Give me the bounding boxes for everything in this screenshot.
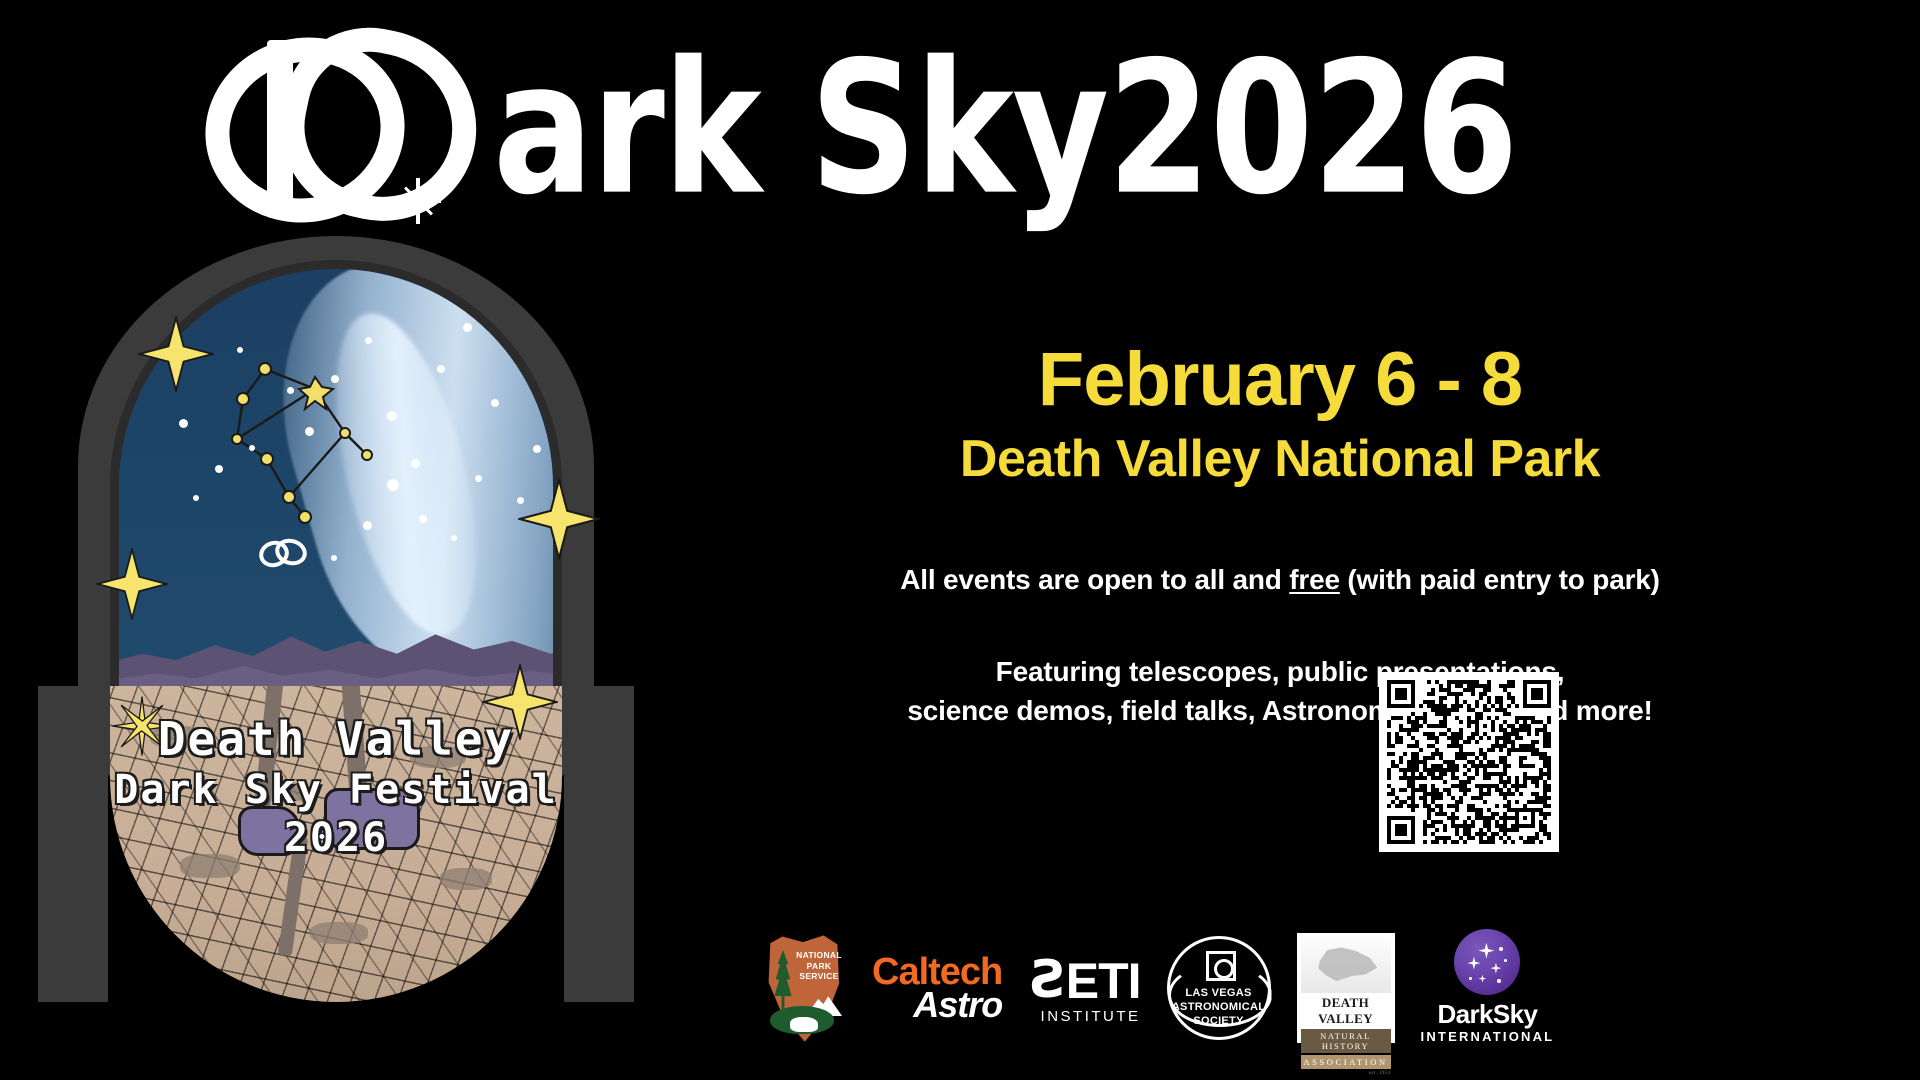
seti-reversed-s-icon: S: [1028, 957, 1065, 1004]
star-icon-mid-right: [518, 478, 600, 560]
sponsor-death-valley-natural-history-association[interactable]: DEATH VALLEY NATURAL HISTORY ASSOCIATION…: [1297, 927, 1395, 1049]
poster-root: ark Sky2026: [0, 0, 1920, 1080]
free-admission-notice: All events are open to all and free (wit…: [660, 564, 1900, 596]
darksky-international-logo: DarkSky INTERNATIONAL: [1421, 929, 1555, 1048]
sponsor-national-park-service[interactable]: NATIONAL PARK SERVICE: [760, 927, 846, 1049]
sponsor-logo-row: NATIONAL PARK SERVICE Caltech Astro S ET…: [760, 922, 1460, 1054]
festival-badge-sticker: Death Valley Dark Sky Festival 2026: [78, 236, 594, 866]
event-info-column: February 6 - 8 Death Valley National Par…: [660, 340, 1900, 731]
sparkle-icon: [395, 178, 441, 224]
dvnha-line-3: ASSOCIATION: [1301, 1055, 1391, 1069]
caltech-astro-logo: Caltech Astro: [872, 953, 1002, 1023]
star-icon-top-left: [138, 316, 214, 392]
sponsor-seti-institute[interactable]: S ETI INSTITUTE: [1028, 927, 1140, 1049]
badge-title: Death Valley Dark Sky Festival 2026: [78, 714, 594, 862]
badge-title-line2: Dark Sky Festival 2026: [78, 766, 594, 862]
free-notice-post: (with paid entry to park): [1340, 564, 1660, 595]
nps-line-2: PARK: [794, 961, 844, 972]
nps-arrowhead-icon: NATIONAL PARK SERVICE: [760, 932, 846, 1044]
dvnha-line-4: est. 1954: [1301, 1071, 1391, 1076]
dvnha-line-1: DEATH VALLEY: [1301, 995, 1391, 1027]
compass-rose-icon: [1206, 951, 1236, 981]
free-notice-emphasis: free: [1289, 564, 1340, 595]
seti-institute-logo: S ETI INSTITUTE: [1028, 952, 1140, 1025]
sponsor-caltech-astro[interactable]: Caltech Astro: [872, 927, 1002, 1049]
sponsor-darksky-international[interactable]: DarkSky INTERNATIONAL: [1421, 927, 1555, 1049]
sponsor-las-vegas-astronomical-society[interactable]: LAS VEGAS ASTRONOMICAL SOCIETY: [1167, 927, 1271, 1049]
darksky-international-word: INTERNATIONAL: [1421, 1027, 1555, 1048]
event-date: February 6 - 8: [660, 340, 1900, 421]
dvnha-line-2: NATURAL HISTORY: [1301, 1029, 1391, 1053]
featuring-text: Featuring telescopes, public presentatio…: [660, 652, 1900, 732]
event-location: Death Valley National Park: [660, 427, 1900, 492]
free-notice-pre: All events are open to all and: [900, 564, 1289, 595]
star-icon-mid-left: [96, 548, 168, 620]
wordmark: ark Sky2026: [493, 37, 1518, 220]
header-logo: ark Sky2026: [0, 18, 1760, 233]
wordmark-primary: ark Sky: [493, 22, 1107, 236]
nps-line-1: NATIONAL: [794, 950, 844, 961]
seti-eti-letters: ETI: [1066, 952, 1141, 1010]
lvas-line-3: SOCIETY: [1170, 1015, 1268, 1029]
featuring-line-1: Featuring telescopes, public presentatio…: [660, 652, 1900, 692]
darksky-name: DarkSky: [1437, 1001, 1537, 1027]
lvas-circle-logo: LAS VEGAS ASTRONOMICAL SOCIETY: [1167, 936, 1271, 1040]
wordmark-year: 2026: [1108, 22, 1518, 236]
darksky-orb-icon: [1454, 929, 1520, 995]
featuring-line-2: science demos, field talks, Astronomy on…: [660, 691, 1900, 731]
badge-title-line1: Death Valley: [78, 714, 594, 766]
lvas-line-2: ASTRONOMICAL: [1170, 1001, 1268, 1015]
qr-code[interactable]: [1379, 672, 1559, 852]
dvnha-logo: DEATH VALLEY NATURAL HISTORY ASSOCIATION…: [1297, 933, 1395, 1043]
dd-emblem-in-sky: [259, 537, 311, 571]
ram-skull-icon: [1301, 937, 1391, 993]
nps-line-3: SERVICE: [794, 971, 844, 982]
darksky-dd-planet-icon: [199, 18, 489, 233]
lvas-line-1: LAS VEGAS: [1170, 987, 1268, 1001]
qr-code-canvas: [1387, 680, 1551, 844]
